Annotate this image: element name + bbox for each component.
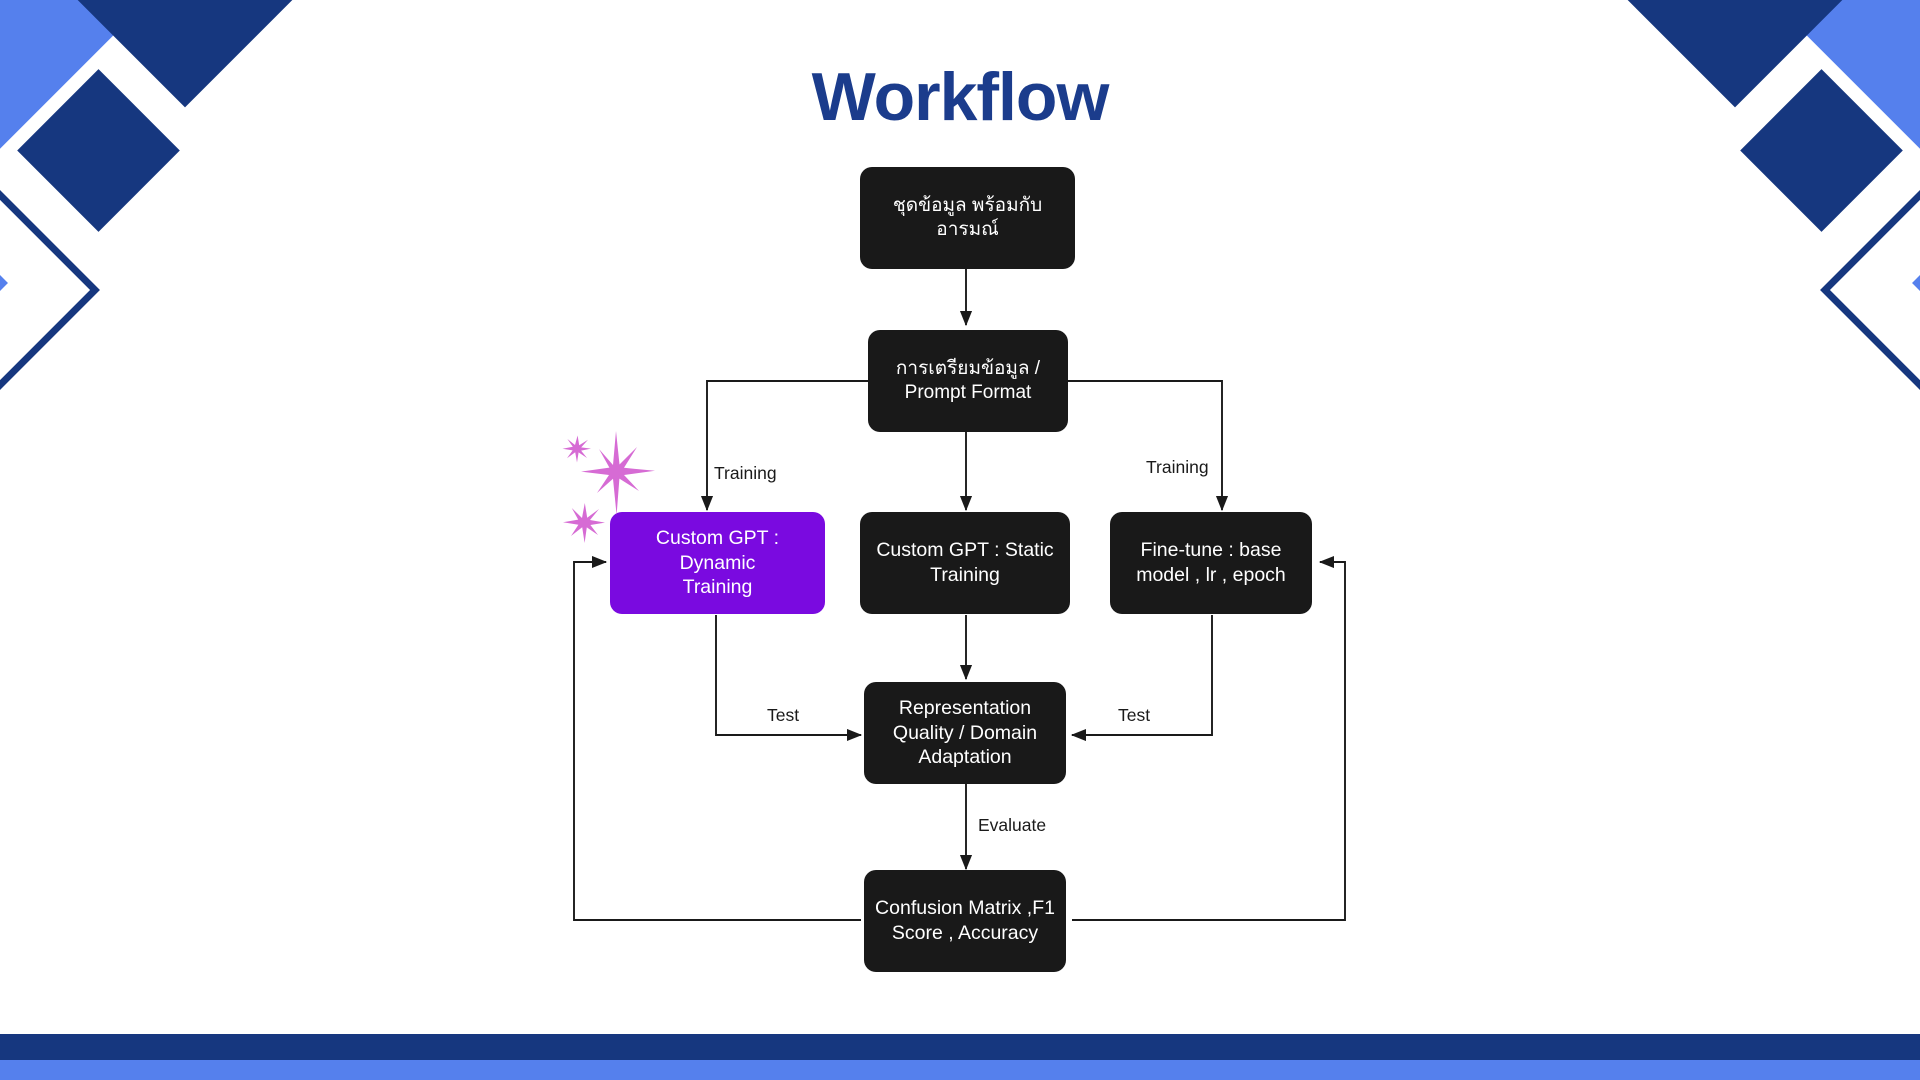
footer-bar-blue [0, 1060, 1920, 1080]
workflow-diagram: ชุดข้อมูล พร้อมกับอารมณ์ การเตรียมข้อมูล… [0, 0, 1920, 1080]
node-custom-gpt-dynamic-training[interactable]: Custom GPT : Dynamic Training [610, 512, 825, 614]
node-custom-gpt-static-training[interactable]: Custom GPT : Static Training [860, 512, 1070, 614]
slide-canvas: Workflow [0, 0, 1920, 1080]
edge-label-test-right: Test [1118, 707, 1150, 725]
edge-label-evaluate: Evaluate [978, 817, 1046, 835]
footer-bar-navy [0, 1034, 1920, 1060]
edge-label-training-right: Training [1146, 459, 1209, 477]
node-fine-tune[interactable]: Fine-tune : base model , lr , epoch [1110, 512, 1312, 614]
node-dataset[interactable]: ชุดข้อมูล พร้อมกับอารมณ์ [860, 167, 1075, 269]
edge-label-training-left: Training [714, 465, 777, 483]
edge-label-test-left: Test [767, 707, 799, 725]
node-evaluation-metrics[interactable]: Confusion Matrix ,F1 Score , Accuracy [864, 870, 1066, 972]
node-data-preparation[interactable]: การเตรียมข้อมูล / Prompt Format [868, 330, 1068, 432]
node-representation-quality[interactable]: Representation Quality / Domain Adaptati… [864, 682, 1066, 784]
